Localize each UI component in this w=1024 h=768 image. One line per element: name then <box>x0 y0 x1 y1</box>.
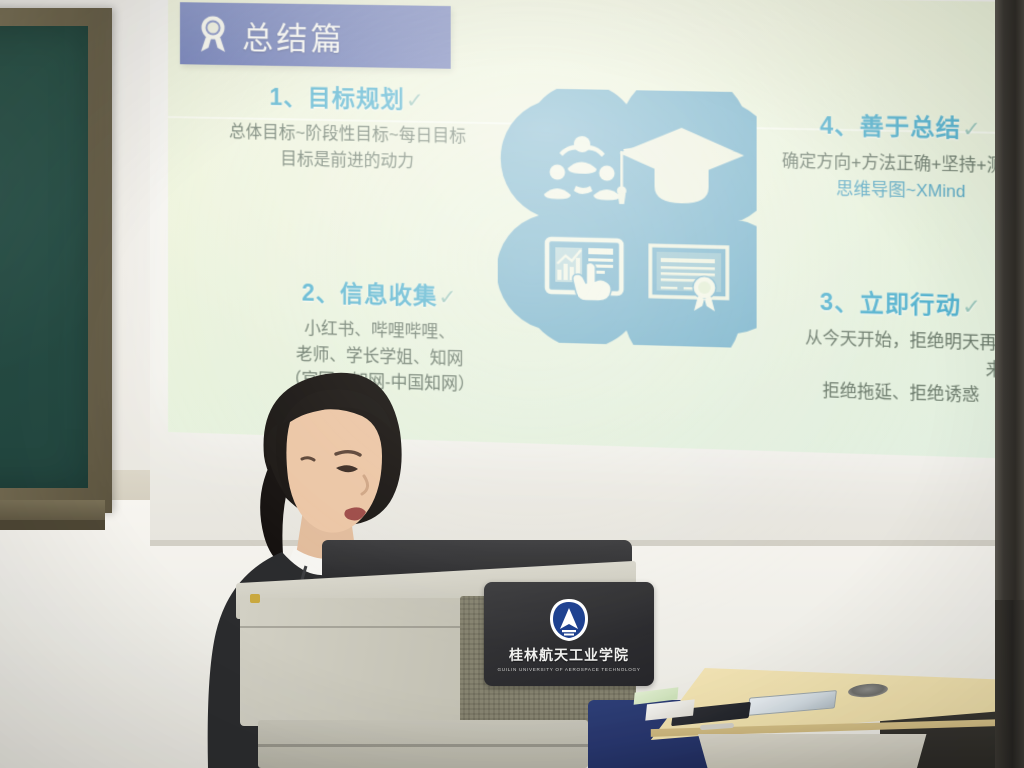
lectern-base-seam <box>258 744 588 747</box>
desk-panel <box>698 734 936 768</box>
quadrant-3-check-icon: ✓ <box>962 295 982 319</box>
quadrant-4-line-1: 确定方向+方法正确+坚持+测试 <box>782 149 1021 180</box>
quadrant-4-heading: 4、善于总结✓ <box>782 105 1021 144</box>
quadrant-1-title: 目标规划 <box>308 84 405 112</box>
quadrant-4-line-2: 思维导图~XMind <box>782 175 1021 206</box>
quadrant-2-number: 2、 <box>302 279 340 306</box>
quadrant-2-check-icon: ✓ <box>439 286 458 310</box>
quadrant-2-title: 信息收集 <box>340 280 438 309</box>
right-column <box>995 0 1024 620</box>
quadrant-4-body: 确定方向+方法正确+坚持+测试 思维导图~XMind <box>782 149 1021 207</box>
slide-title-banner: 总结篇 <box>180 2 451 69</box>
quadrant-1-heading: 1、目标规划✓ <box>186 76 510 116</box>
classroom-scene: 总结篇 1、目标规划✓ 总体目标~阶段性目标~每日目标 目标是前进的动力 4、善… <box>0 0 1024 768</box>
quadrant-1-goal-planning: 1、目标规划✓ 总体目标~阶段性目标~每日目标 目标是前进的动力 <box>186 76 510 177</box>
lectern-university-plate: 桂林航天工业学院 GUILIN UNIVERSITY OF AEROSPACE … <box>484 582 654 686</box>
quadrant-4-title: 善于总结 <box>860 113 962 142</box>
quadrant-3-body: 从今天开始，拒绝明天再 来、 拒绝拖延、拒绝诱惑 <box>782 325 1021 411</box>
quadrant-2-heading: 2、信息收集✓ <box>228 272 533 314</box>
chalkboard-rail-shadow <box>0 520 105 530</box>
quadrant-4-summarizing: 4、善于总结✓ 确定方向+方法正确+坚持+测试 思维导图~XMind <box>782 105 1021 207</box>
slide-title: 总结篇 <box>242 12 345 59</box>
university-name-cn: 桂林航天工业学院 <box>509 645 629 665</box>
lectern-latch <box>250 594 260 603</box>
quadrant-3-number: 3、 <box>820 288 860 316</box>
four-petal-diagram <box>498 88 757 348</box>
quadrant-4-number: 4、 <box>820 112 860 139</box>
quadrant-3-heading: 3、立即行动✓ <box>782 281 1021 322</box>
side-desk <box>640 662 1024 768</box>
quadrant-3-title: 立即行动 <box>860 289 962 318</box>
quadrant-3-act-now: 3、立即行动✓ 从今天开始，拒绝明天再 来、 拒绝拖延、拒绝诱惑 <box>782 281 1021 411</box>
right-column-base <box>995 600 1024 768</box>
quadrant-4-check-icon: ✓ <box>962 118 982 142</box>
quadrant-1-number: 1、 <box>270 84 308 111</box>
award-rosette-icon <box>196 13 230 54</box>
university-name-en: GUILIN UNIVERSITY OF AEROSPACE TECHNOLOG… <box>497 667 640 672</box>
quadrant-1-body: 总体目标~阶段性目标~每日目标 目标是前进的动力 <box>186 119 510 177</box>
quadrant-1-check-icon: ✓ <box>406 89 425 113</box>
chalkboard-surface <box>0 26 88 488</box>
university-shield-emblem <box>547 597 591 643</box>
